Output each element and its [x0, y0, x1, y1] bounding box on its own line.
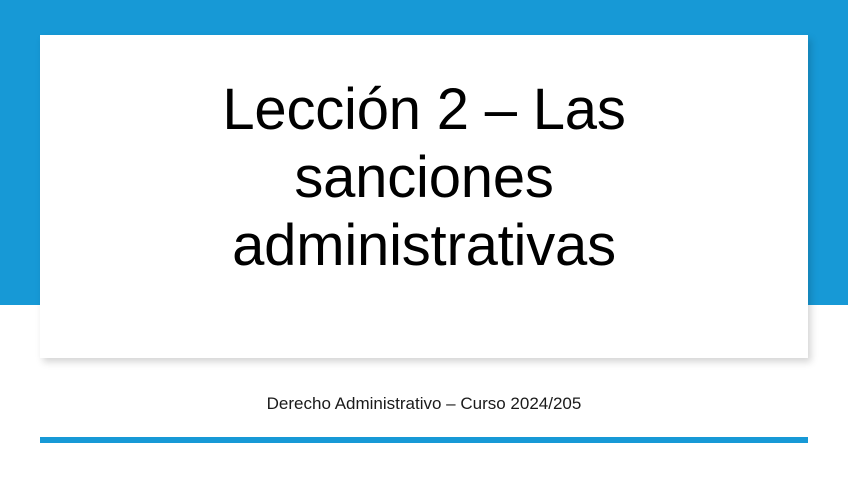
slide-subtitle: Derecho Administrativo – Curso 2024/205	[40, 392, 808, 416]
title-line-3: administrativas	[100, 212, 748, 280]
title-slide: Lección 2 – Las sanciones administrativa…	[0, 0, 848, 477]
slide-title: Lección 2 – Las sanciones administrativa…	[40, 35, 808, 320]
title-card: Lección 2 – Las sanciones administrativa…	[40, 35, 808, 358]
title-line-1: Lección 2 – Las	[100, 76, 748, 144]
title-line-2: sanciones	[100, 144, 748, 212]
bottom-accent-rule	[40, 437, 808, 443]
